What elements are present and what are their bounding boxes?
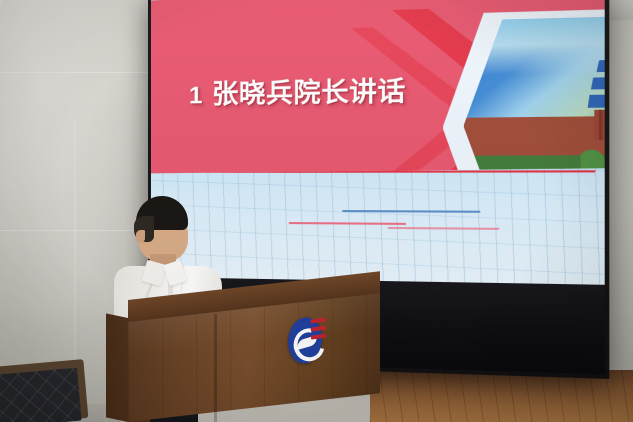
podium-corner-edge <box>214 314 217 422</box>
slide-number: 1 <box>189 82 203 109</box>
presentation-photo: 1张晓兵院长讲话 <box>0 0 633 422</box>
ear <box>136 230 145 243</box>
roof-tier-2 <box>591 77 604 90</box>
slide-title: 1张晓兵院长讲话 <box>189 70 406 111</box>
emblem-stripe-1 <box>311 318 326 324</box>
chair-cushion <box>0 368 82 422</box>
institution-emblem-icon <box>288 311 329 366</box>
wooden-podium <box>128 300 380 422</box>
brick-facade <box>594 109 604 140</box>
roof-tier-1 <box>596 60 604 72</box>
quilted-leather-chair <box>0 359 88 422</box>
slide-title-text: 张晓兵院长讲话 <box>212 75 406 109</box>
roof-tier-3 <box>588 94 605 108</box>
